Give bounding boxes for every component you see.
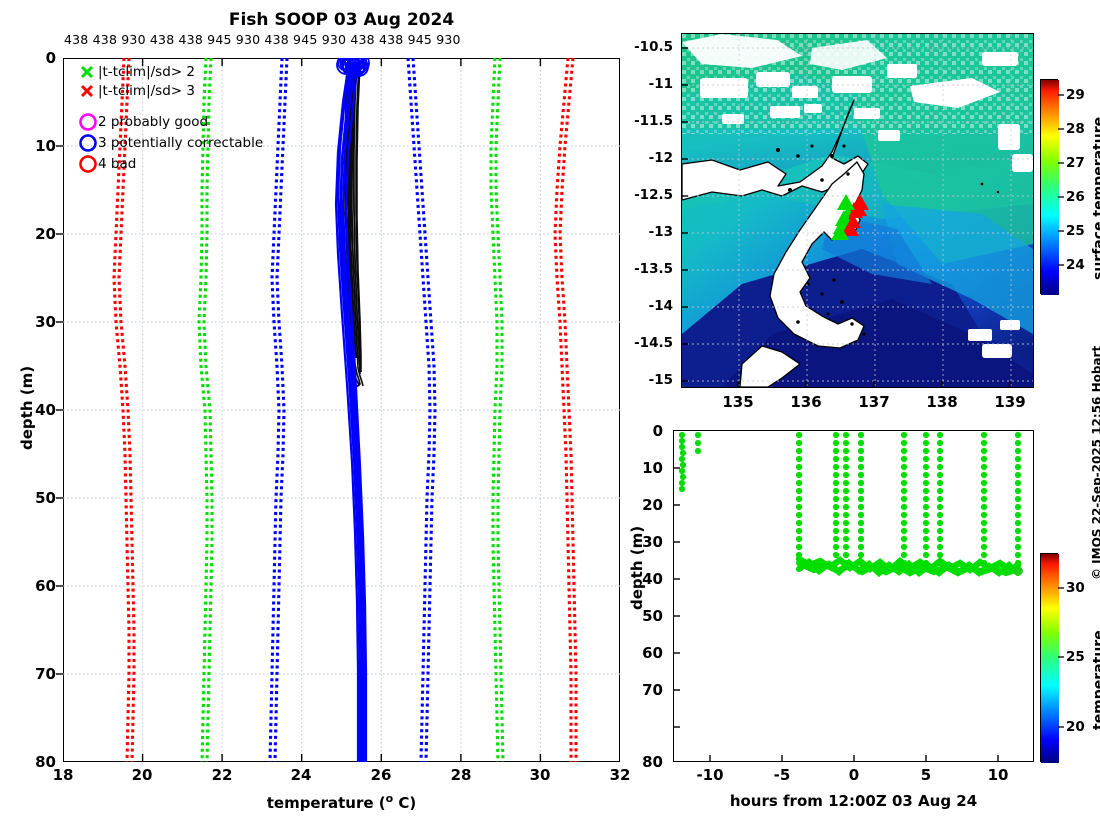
map-ytick--11.5: -11.5 [620, 113, 673, 129]
timeseries-colorbar-label: temperature [1091, 630, 1100, 730]
map-cbar-tick-26: 26 [1066, 189, 1085, 205]
profile-yaxis-label: depth (m) [18, 366, 36, 450]
ts-xtick-10: 10 [978, 766, 1018, 784]
map-cbar-tick-28: 28 [1066, 121, 1085, 137]
profile-ytick-20: 20 [20, 225, 56, 243]
ts-cbar-tick-30: 30 [1066, 580, 1085, 596]
map-xtick-139: 139 [990, 393, 1030, 411]
profile-ytick-30: 30 [20, 313, 56, 331]
ts-ytick-60: 60 [630, 644, 663, 662]
figure-title: Fish SOOP 03 Aug 2024 [63, 10, 620, 30]
ts-xtick--5: -5 [762, 766, 802, 784]
profile-ytick-0: 0 [20, 49, 56, 67]
profile-xtick-24: 24 [281, 766, 321, 784]
copyright-text: © IMOS 22-Sep-2025 12:56 Hobart [1090, 346, 1100, 580]
ts-ytick-80: 80 [630, 753, 663, 771]
map-ytick--10.5: -10.5 [620, 39, 673, 55]
map-ytick--12.5: -12.5 [620, 187, 673, 203]
profile-xtick-18: 18 [43, 766, 83, 784]
map-xtick-138: 138 [922, 393, 962, 411]
profile-ytick-60: 60 [20, 577, 56, 595]
profile-ytick-50: 50 [20, 489, 56, 507]
map-cbar-tick-25: 25 [1066, 223, 1085, 239]
map-cbar-tick-29: 29 [1066, 87, 1085, 103]
map-ytick--15: -15 [620, 372, 673, 388]
timeseries-colorbar-ticks [1058, 553, 1066, 762]
profile-ytick-70: 70 [20, 665, 56, 683]
timeseries-colorbar [1040, 553, 1058, 762]
map-xtick-136: 136 [786, 393, 826, 411]
map-ytick--13: -13 [620, 224, 673, 240]
map-xtick-135: 135 [718, 393, 758, 411]
profile-ytick-10: 10 [20, 137, 56, 155]
profile-xtick-20: 20 [122, 766, 162, 784]
ts-ytick-10: 10 [630, 459, 663, 477]
profile-xtick-marks [63, 58, 620, 762]
profile-xtick-22: 22 [202, 766, 242, 784]
profile-xtick-30: 30 [520, 766, 560, 784]
profile-xtick-28: 28 [441, 766, 481, 784]
map-ytick--14: -14 [620, 298, 673, 314]
profile-xaxis-label: temperature (o C) [63, 792, 620, 812]
map-ytick--12: -12 [620, 150, 673, 166]
ts-ytick-70: 70 [630, 681, 663, 699]
profile-xaxis-label-text: temperature (o C) [267, 794, 417, 812]
ts-xtick--10: -10 [690, 766, 730, 784]
timeseries-tick-marks [665, 430, 1035, 770]
ts-xtick-5: 5 [906, 766, 946, 784]
map-tick-marks [673, 33, 1035, 396]
map-cbar-tick-27: 27 [1066, 155, 1085, 171]
map-ytick--13.5: -13.5 [620, 261, 673, 277]
ts-xtick-0: 0 [834, 766, 874, 784]
map-colorbar-label: surface temperature [1091, 117, 1100, 280]
ts-ytick-0: 0 [630, 422, 663, 440]
map-cbar-tick-24: 24 [1066, 257, 1085, 273]
ts-cbar-tick-20: 20 [1066, 719, 1085, 735]
timeseries-yaxis-label: depth (m) [628, 526, 646, 610]
map-colorbar [1040, 79, 1058, 294]
ts-cbar-tick-25: 25 [1066, 649, 1085, 665]
timeseries-xaxis-label: hours from 12:00Z 03 Aug 24 [673, 792, 1034, 810]
profile-xtick-26: 26 [361, 766, 401, 784]
ts-ytick-20: 20 [630, 496, 663, 514]
map-xtick-137: 137 [854, 393, 894, 411]
map-colorbar-ticks [1058, 79, 1066, 294]
profile-id-row: 438 438 930 438 438 945 930 438 945 930 … [64, 32, 624, 47]
map-ytick--11: -11 [620, 76, 673, 92]
map-ytick--14.5: -14.5 [620, 335, 673, 351]
